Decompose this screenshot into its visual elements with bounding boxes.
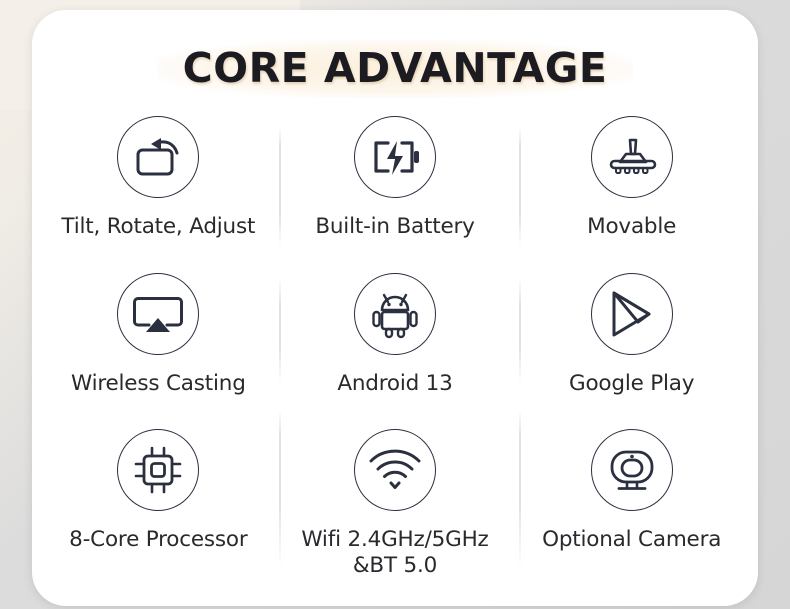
cpu-chip-icon <box>117 429 199 511</box>
page-background: CORE ADVANTAGE Tilt, Rotate, Adjust <box>0 0 790 609</box>
webcam-icon <box>591 429 673 511</box>
column-divider-left <box>279 128 281 568</box>
feature-item-optional-camera: Optional Camera <box>513 423 750 580</box>
feature-label: Google Play <box>569 371 694 396</box>
title-glow: CORE ADVANTAGE <box>157 38 634 102</box>
wireless-cast-icon <box>117 273 199 355</box>
feature-label: 8-Core Processor <box>69 527 247 552</box>
movable-stand-icon <box>591 116 673 198</box>
rotate-screen-icon <box>117 116 199 198</box>
battery-charging-icon <box>354 116 436 198</box>
feature-item-tilt-rotate-adjust: Tilt, Rotate, Adjust <box>40 110 277 267</box>
google-play-icon <box>591 273 673 355</box>
feature-item-google-play: Google Play <box>513 267 750 424</box>
wifi-icon <box>354 429 436 511</box>
feature-label: Wifi 2.4GHz/5GHz &BT 5.0 <box>301 527 488 578</box>
android-robot-icon <box>354 273 436 355</box>
feature-label: Movable <box>587 214 676 239</box>
feature-label: Wireless Casting <box>71 371 246 396</box>
page-title: CORE ADVANTAGE <box>183 44 608 92</box>
feature-label: Optional Camera <box>542 527 721 552</box>
column-divider-right <box>519 128 521 568</box>
feature-item-8-core-processor: 8-Core Processor <box>40 423 277 580</box>
feature-grid: Tilt, Rotate, Adjust Built-in Battery <box>40 110 750 580</box>
page-title-wrap: CORE ADVANTAGE <box>32 38 758 102</box>
feature-item-built-in-battery: Built-in Battery <box>277 110 514 267</box>
feature-label: Android 13 <box>337 371 452 396</box>
feature-item-wireless-casting: Wireless Casting <box>40 267 277 424</box>
feature-label: Tilt, Rotate, Adjust <box>61 214 255 239</box>
feature-item-movable: Movable <box>513 110 750 267</box>
feature-item-android-13: Android 13 <box>277 267 514 424</box>
core-advantage-card: CORE ADVANTAGE Tilt, Rotate, Adjust <box>32 10 758 606</box>
feature-item-wifi-bluetooth: Wifi 2.4GHz/5GHz &BT 5.0 <box>277 423 514 580</box>
feature-label: Built-in Battery <box>315 214 474 239</box>
